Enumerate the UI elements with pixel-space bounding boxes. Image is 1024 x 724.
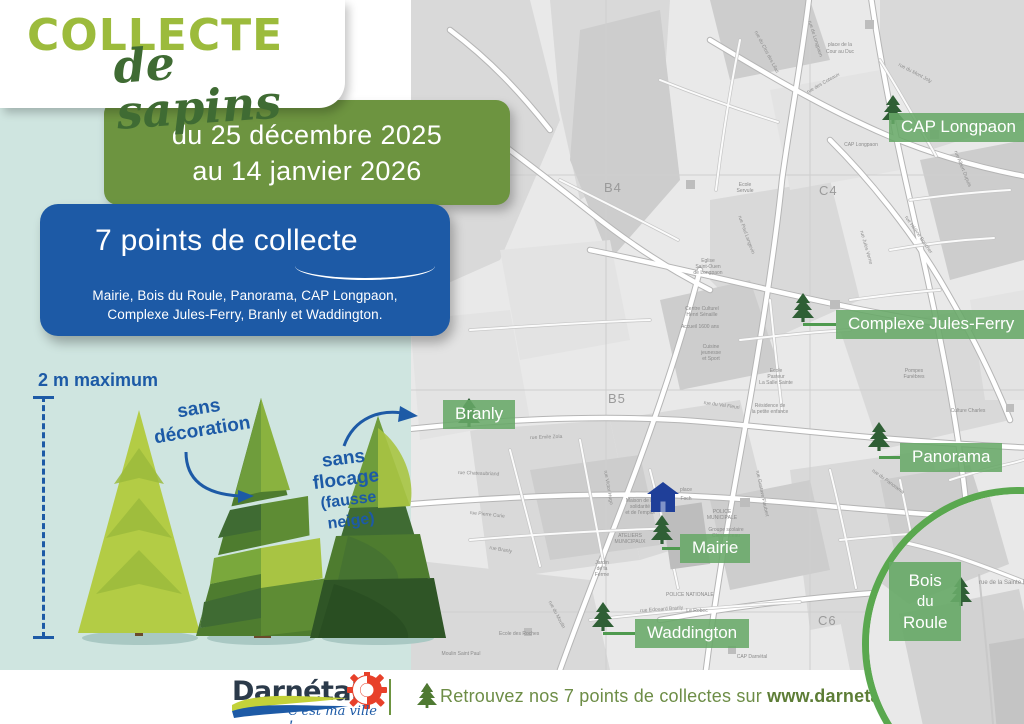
svg-text:rue de la Sainte Bénone: rue de la Sainte Bénone xyxy=(979,580,1024,586)
map-place-label: et Sport xyxy=(691,356,731,362)
map-marker-label-bois-du-roule[interactable]: BoisduRoule xyxy=(889,562,961,641)
footer-cta-prefix: Retrouvez nos 7 points de collectes sur xyxy=(440,686,767,706)
map-place-label: Henri Sénaille xyxy=(682,312,722,318)
arrow-to-flocked-tree xyxy=(340,404,422,452)
map-marker-label-branly[interactable]: Branly xyxy=(443,400,515,429)
map-place-label: place de la xyxy=(820,42,860,48)
map-marker-label-line: Roule xyxy=(903,612,947,633)
map-place-label: Ecole des Roches xyxy=(499,631,539,637)
collection-points-title: 7 points de collecte xyxy=(95,224,358,258)
map-grid-label: C6 xyxy=(818,613,837,628)
map-grid-label: C4 xyxy=(819,183,838,198)
mairie-house-icon xyxy=(646,481,680,513)
map-marker-tree-icon[interactable] xyxy=(792,293,814,328)
map-street-label: rue Emile Zola xyxy=(530,434,562,441)
map-place-label: MUNICIPAUX xyxy=(610,539,650,545)
collection-points-list: Mairie, Bois du Roule, Panorama, CAP Lon… xyxy=(40,286,450,324)
map-marker-label-line: Bois xyxy=(903,570,947,591)
arrow-to-decorated-tree xyxy=(180,448,270,510)
height-ruler xyxy=(42,396,45,638)
ruler-cap-bottom xyxy=(33,636,54,639)
title-underline-swash xyxy=(295,266,435,280)
map-place-label: Cour au Duc xyxy=(820,49,860,55)
map-marker-label-waddington[interactable]: Waddington xyxy=(635,619,749,648)
map-place-label: Funèbres xyxy=(894,374,934,380)
map-place-label: MUNICIPALE xyxy=(702,515,742,521)
map-place-label: CAP Longpaon xyxy=(841,142,881,148)
ruler-cap-top xyxy=(33,396,54,399)
footer-divider xyxy=(389,679,391,715)
map-place-label: la petite enfance xyxy=(750,409,790,415)
max-height-label: 2 m maximum xyxy=(38,370,158,391)
map-marker-label-mairie[interactable]: Mairie xyxy=(680,534,750,563)
map-marker-tree-icon[interactable] xyxy=(868,422,890,457)
collection-points-list-line2: Complexe Jules-Ferry, Branly et Waddingt… xyxy=(40,305,450,324)
collection-points-list-line1: Mairie, Bois du Roule, Panorama, CAP Lon… xyxy=(40,286,450,305)
map-place-label: Ferme xyxy=(582,572,622,578)
collection-points-card: 7 points de collecte Mairie, Bois du Rou… xyxy=(40,204,450,336)
map-place-label: Servule xyxy=(725,188,765,194)
footer-cta: Retrouvez nos 7 points de collectes sur … xyxy=(440,686,905,707)
map-place-label: POLICE NATIONALE xyxy=(666,592,706,598)
map-marker-label-line: du xyxy=(903,591,947,612)
map-marker-label-complexe-jules-ferry[interactable]: Complexe Jules-Ferry xyxy=(836,310,1024,339)
map-place-label: Culture Charles xyxy=(948,408,988,414)
map-marker-tree-icon[interactable] xyxy=(651,515,673,550)
map-marker-label-cap-longpaon[interactable]: CAP Longpaon xyxy=(889,113,1024,142)
logo-card: COLLECTE de sapins xyxy=(0,0,345,108)
map-grid-label: B5 xyxy=(608,391,626,406)
poster-root: B4 C4 B5 C6 place de laCour au DucCAP Lo… xyxy=(0,0,1024,724)
map-place-label: de Longpaon xyxy=(688,270,728,276)
map-place-label: CAP Darnétal xyxy=(732,654,772,660)
logo-subtitle-de-sapins: de sapins xyxy=(112,28,348,136)
footer-fir-tree-icon xyxy=(417,683,437,709)
map-marker-label-panorama[interactable]: Panorama xyxy=(900,443,1002,472)
darnetal-logo-slogan: C'est ma ville ! xyxy=(288,704,384,724)
map-grid-label: B4 xyxy=(604,180,622,195)
map-place-label: La Salle Sainte xyxy=(756,380,796,386)
annotation-no-flocking: sans flocage (fausse neige) xyxy=(309,444,385,535)
map-place-label: Accueil 1600 ans xyxy=(680,324,720,330)
darnetal-logo[interactable]: Darnétal C'est ma v xyxy=(232,672,384,722)
dates-line-2: au 14 janvier 2026 xyxy=(104,153,510,189)
map-marker-tree-icon[interactable] xyxy=(592,602,614,637)
